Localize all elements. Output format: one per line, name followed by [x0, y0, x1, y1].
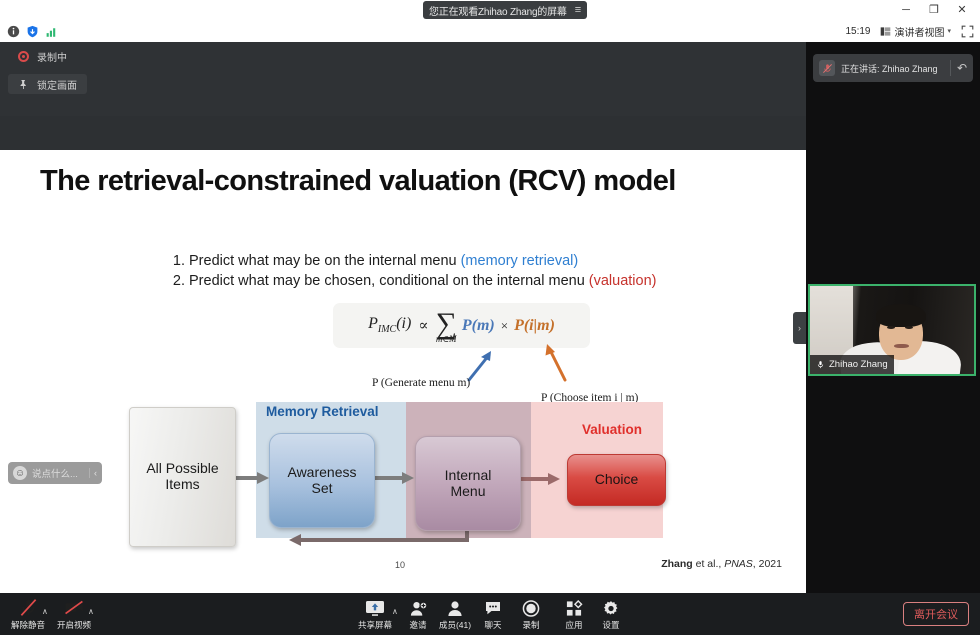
toolbar-label: 邀请 [409, 619, 426, 631]
mic-muted-icon [19, 598, 38, 617]
bullet-highlight: (memory retrieval) [461, 253, 579, 269]
leave-meeting-button[interactable]: 离开会议 [903, 602, 969, 626]
toolbar-apps-button[interactable]: 应用 [555, 595, 593, 633]
formula-summation: ∑ m∈M [435, 312, 456, 344]
citation-author: Zhang [661, 558, 693, 570]
shared-screen-area: 录制中 锁定画面 The retrieval-constrained valua… [0, 42, 806, 593]
orange-arrow-icon [541, 342, 571, 382]
back-arrow-icon[interactable]: ↶ [957, 62, 967, 74]
slide-title: The retrieval-constrained valuation (RCV… [40, 165, 770, 198]
panel-collapse-handle[interactable]: › [793, 312, 806, 344]
status-icons-group [0, 25, 58, 38]
toolbar-settings-button[interactable]: 设置 [593, 595, 629, 633]
video-eye-right [905, 326, 913, 329]
record-dot-icon [18, 51, 29, 62]
formula-relation: ∝ [416, 316, 430, 335]
minimize-icon[interactable]: ─ [892, 0, 920, 20]
zoom-top-status-bar: 15:19 演讲者视图 ▾ [0, 20, 980, 42]
view-mode-label: 演讲者视图 [894, 24, 944, 39]
speaker-view-icon [880, 26, 891, 37]
info-icon[interactable] [7, 25, 20, 38]
top-right-group: 15:19 演讲者视图 ▾ [845, 20, 974, 42]
window-title-bar: 您正在观看Zhihao Zhang的屏幕 ≡ ─ ❐ ✕ [0, 0, 980, 21]
citation-mid: et al., [693, 558, 725, 570]
formula-times: × [500, 318, 509, 334]
annotation-comment-bar[interactable]: ☺ 说点什么... ‹ [8, 462, 102, 484]
slide-citation: Zhang et al., PNAS, 2021 [661, 558, 782, 570]
video-name-badge: Zhihao Zhang [810, 355, 894, 374]
video-name-label: Zhihao Zhang [829, 359, 888, 370]
toolbar-label: 解除静音 [11, 619, 45, 631]
camera-off-icon [64, 598, 85, 617]
recording-label: 录制中 [37, 49, 67, 64]
node-choice: Choice [567, 454, 666, 506]
formula-lhs: PIMC(i) [368, 315, 411, 335]
divider [950, 60, 951, 76]
shield-icon[interactable] [26, 25, 39, 38]
toolbar-chat-button[interactable]: 聊天 [475, 595, 511, 633]
video-options-caret[interactable]: ∧ [88, 607, 94, 616]
node-label: InternalMenu [445, 468, 492, 499]
active-speaker-chip[interactable]: 正在讲话: Zhihao Zhang ↶ [813, 54, 973, 82]
list-item: 1. Predict what may be on the internal m… [168, 253, 728, 269]
participant-video-tile[interactable]: Zhihao Zhang [808, 284, 976, 376]
recording-indicator[interactable]: 录制中 [8, 46, 77, 66]
annotation-generate-menu: P (Generate menu m) [372, 377, 470, 389]
meeting-toolbar: 解除静音 ∧ 开启视频 ∧ 共享屏幕 ∧ [0, 593, 980, 635]
toolbar-label: 录制 [522, 619, 539, 631]
node-internal-menu: InternalMenu [415, 436, 521, 531]
record-icon [522, 598, 540, 617]
slide-bullet-list: 1. Predict what may be on the internal m… [168, 253, 728, 293]
window-controls: ─ ❐ ✕ [892, 0, 976, 20]
toolbar-invite-button[interactable]: 邀请 [400, 595, 436, 633]
formula-term-orange: P(i|m) [514, 317, 555, 335]
fullscreen-icon[interactable] [961, 25, 974, 38]
bullet-text: Predict what may be chosen, conditional … [189, 273, 585, 289]
participants-icon [446, 598, 464, 617]
emoji-icon[interactable]: ☺ [13, 466, 27, 480]
bullet-number: 2. [168, 273, 185, 289]
mic-options-caret[interactable]: ∧ [42, 607, 48, 616]
formula-term-blue: P(m) [462, 317, 495, 335]
node-all-possible-items: All PossibleItems [129, 407, 236, 547]
clock: 15:19 [845, 26, 870, 37]
rcv-flow-diagram: Memory Retrieval Valuation All PossibleI… [123, 398, 683, 548]
chevron-down-icon[interactable]: ▾ [947, 27, 951, 35]
active-speaker-label: 正在讲话: Zhihao Zhang [841, 62, 944, 75]
sigma-subscript: m∈M [436, 335, 457, 344]
pin-icon [18, 79, 29, 90]
share-screen-icon [365, 598, 385, 617]
pin-screen-indicator[interactable]: 锁定画面 [8, 74, 87, 94]
chevron-left-icon[interactable]: ‹ [89, 468, 97, 478]
citation-journal: PNAS [724, 558, 753, 570]
menu-icon[interactable]: ≡ [575, 5, 581, 16]
screen-share-banner[interactable]: 您正在观看Zhihao Zhang的屏幕 ≡ [423, 1, 587, 19]
node-awareness-set: AwarenessSet [269, 433, 375, 528]
sigma-icon: ∑ [435, 312, 456, 336]
mic-icon [816, 359, 825, 370]
share-top-strip [0, 42, 806, 116]
mic-muted-small-icon [822, 63, 833, 74]
gear-icon [602, 598, 620, 617]
node-label: AwarenessSet [287, 465, 356, 496]
slide-page-number: 10 [395, 560, 405, 570]
bullet-highlight: (valuation) [589, 273, 657, 289]
restore-icon[interactable]: ❐ [920, 0, 948, 20]
video-eye-left [887, 326, 895, 329]
citation-year: , 2021 [753, 558, 782, 570]
toolbar-label: 成员(41) [439, 619, 471, 631]
invite-icon [409, 598, 428, 617]
toolbar-label: 应用 [565, 619, 582, 631]
presentation-slide: The retrieval-constrained valuation (RCV… [0, 150, 806, 602]
node-label: Choice [595, 472, 639, 488]
signal-bars-icon[interactable] [45, 25, 58, 38]
toolbar-participants-button[interactable]: 成员(41) [434, 595, 476, 633]
pin-screen-label: 锁定画面 [37, 77, 77, 92]
node-label: All PossibleItems [146, 461, 218, 492]
toolbar-label: 开启视频 [57, 619, 91, 631]
comment-input[interactable]: 说点什么... [32, 466, 84, 480]
list-item: 2. Predict what may be chosen, condition… [168, 273, 728, 289]
chat-icon [484, 598, 502, 617]
speaker-avatar-icon [819, 60, 835, 76]
view-mode-selector[interactable]: 演讲者视图 ▾ [880, 24, 951, 39]
toolbar-label: 共享屏幕 [358, 619, 392, 631]
bullet-text: Predict what may be on the internal menu [189, 253, 457, 269]
toolbar-record-button[interactable]: 录制 [512, 595, 550, 633]
apps-icon [565, 598, 583, 617]
share-options-caret[interactable]: ∧ [392, 607, 398, 616]
toolbar-label: 聊天 [484, 619, 501, 631]
close-icon[interactable]: ✕ [948, 0, 976, 20]
toolbar-label: 设置 [602, 619, 619, 631]
video-hair [876, 304, 925, 327]
bullet-number: 1. [168, 253, 185, 269]
screen-share-banner-text: 您正在观看Zhihao Zhang的屏幕 [429, 3, 567, 18]
